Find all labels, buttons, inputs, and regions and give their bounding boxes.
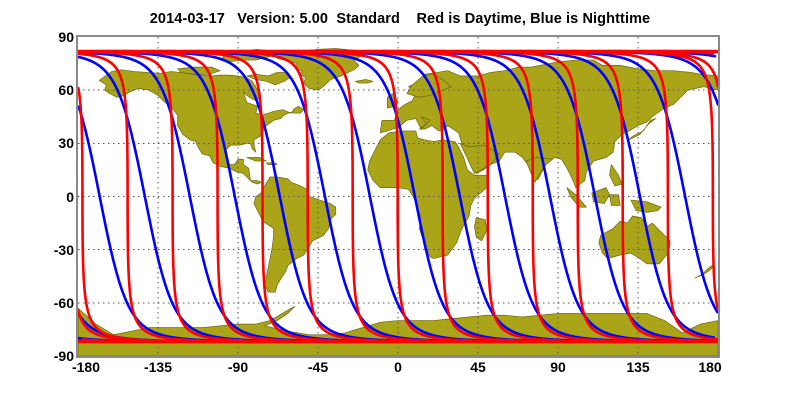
y-tick-label: -60 (40, 296, 74, 310)
y-tick-label: 30 (40, 136, 74, 150)
x-tick-label: 0 (394, 360, 402, 374)
x-tick-label: 45 (470, 360, 486, 374)
landmass-antarctica (78, 306, 718, 356)
plot-area (78, 37, 718, 356)
x-tick-label: 180 (698, 360, 721, 374)
landmass-nz (695, 264, 715, 278)
x-tick-label: -135 (144, 360, 172, 374)
y-axis-labels: 9060300-30-60-90 (34, 0, 74, 400)
x-tick-label: 90 (550, 360, 566, 374)
y-tick-label: 60 (40, 83, 74, 97)
landmass-iceland (355, 80, 373, 84)
figure-title: 2014-03-17 Version: 5.00 Standard Red is… (0, 11, 800, 27)
x-tick-label: -90 (228, 360, 248, 374)
x-tick-label: 135 (626, 360, 649, 374)
map-and-tracks-canvas (78, 37, 718, 356)
landmass-philippines (610, 165, 622, 186)
landmass-newfoundland (293, 106, 304, 113)
landmass-new-guinea (631, 200, 661, 212)
y-tick-label: 0 (40, 190, 74, 204)
ground-track-figure: 2014-03-17 Version: 5.00 Standard Red is… (0, 0, 800, 400)
x-tick-label: -180 (72, 360, 100, 374)
x-axis-labels: -180-135-90-4504590135180 (0, 360, 800, 384)
landmass-australia (599, 216, 670, 264)
landmass-victoria (178, 67, 221, 74)
y-tick-label: 90 (40, 30, 74, 44)
landmass-india-tip (526, 158, 553, 183)
y-tick-label: -30 (40, 243, 74, 257)
x-tick-label: -45 (308, 360, 328, 374)
landmass-madagascar (474, 218, 486, 241)
ground-track-ascending-4 (97, 52, 462, 342)
